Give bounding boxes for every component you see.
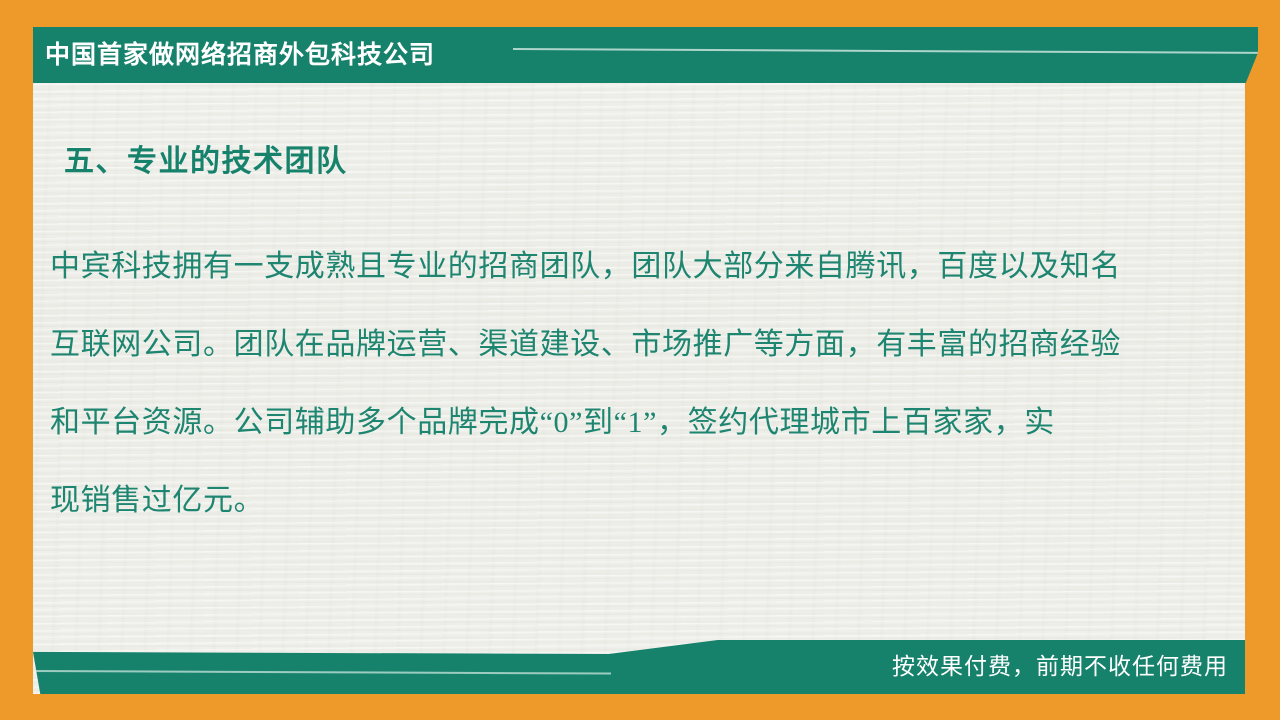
body-line: 现销售过亿元。 bbox=[50, 462, 1185, 540]
frame-border-bottom bbox=[0, 694, 1280, 720]
body-line: 互联网公司。团队在品牌运营、渠道建设、市场推广等方面，有丰富的招商经验 bbox=[50, 306, 1185, 384]
body-paragraph: 中宾科技拥有一支成熟且专业的招商团队，团队大部分来自腾讯，百度以及知名 互联网公… bbox=[50, 228, 1185, 540]
header-title: 中国首家做网络招商外包科技公司 bbox=[45, 33, 435, 77]
frame-border-left bbox=[0, 0, 33, 720]
frame-border-right bbox=[1245, 0, 1280, 720]
presentation-slide: 中国首家做网络招商外包科技公司 五、专业的技术团队 中宾科技拥有一支成熟且专业的… bbox=[0, 0, 1280, 720]
footer-slogan: 按效果付费，前期不收任何费用 bbox=[892, 645, 1228, 687]
frame-border-top bbox=[0, 0, 1280, 27]
section-heading: 五、专业的技术团队 bbox=[64, 136, 348, 180]
body-line: 中宾科技拥有一支成熟且专业的招商团队，团队大部分来自腾讯，百度以及知名 bbox=[50, 228, 1185, 306]
body-line: 和平台资源。公司辅助多个品牌完成“0”到“1”，签约代理城市上百家家，实 bbox=[50, 384, 1185, 462]
